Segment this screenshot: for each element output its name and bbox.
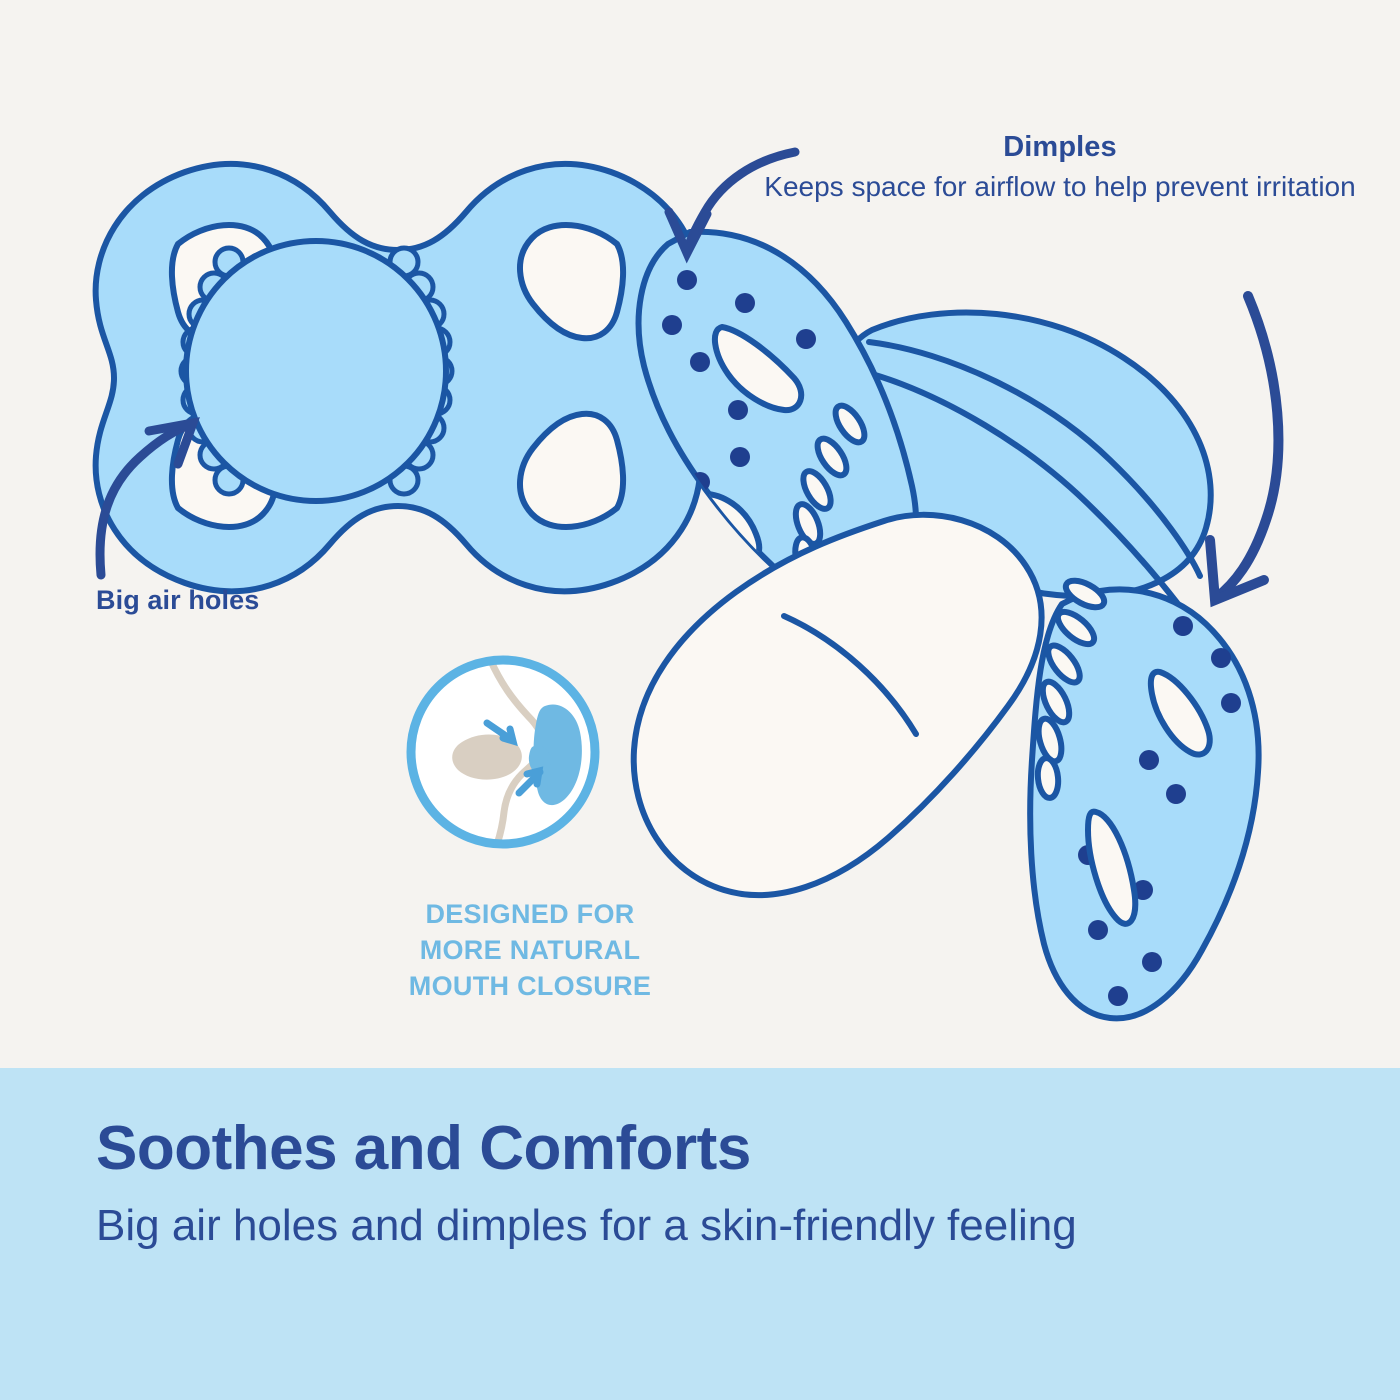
banner-subtitle: Big air holes and dimples for a skin-fri…	[96, 1195, 1304, 1257]
big-air-holes-callout: Big air holes	[96, 585, 426, 616]
inset-caption-line-1: DESIGNED FOR	[355, 897, 705, 933]
shield-center-knob	[186, 241, 446, 501]
dimples-callout: Dimples Keeps space for airflow to help …	[760, 128, 1360, 207]
dimples-callout-body: Keeps space for airflow to help prevent …	[760, 167, 1360, 207]
pacifier-angled-view	[634, 232, 1259, 1019]
banner-title: Soothes and Comforts	[96, 1116, 1304, 1181]
baby-mouth-closure-inset	[411, 652, 595, 868]
inset-caption-line-2: MORE NATURAL	[355, 933, 705, 969]
dimples-arrow-right	[1210, 296, 1278, 600]
inset-caption-line-3: MOUTH CLOSURE	[355, 969, 705, 1005]
pacifier-teat	[634, 515, 1042, 895]
inset-caption: DESIGNED FOR MORE NATURAL MOUTH CLOSURE	[355, 897, 705, 1005]
big-air-holes-callout-label: Big air holes	[96, 585, 426, 616]
pacifier-shield-front-view	[96, 164, 701, 591]
bottom-banner: Soothes and Comforts Big air holes and d…	[0, 1068, 1400, 1400]
dimples-callout-title: Dimples	[760, 128, 1360, 167]
infographic-page: Dimples Keeps space for airflow to help …	[0, 0, 1400, 1400]
